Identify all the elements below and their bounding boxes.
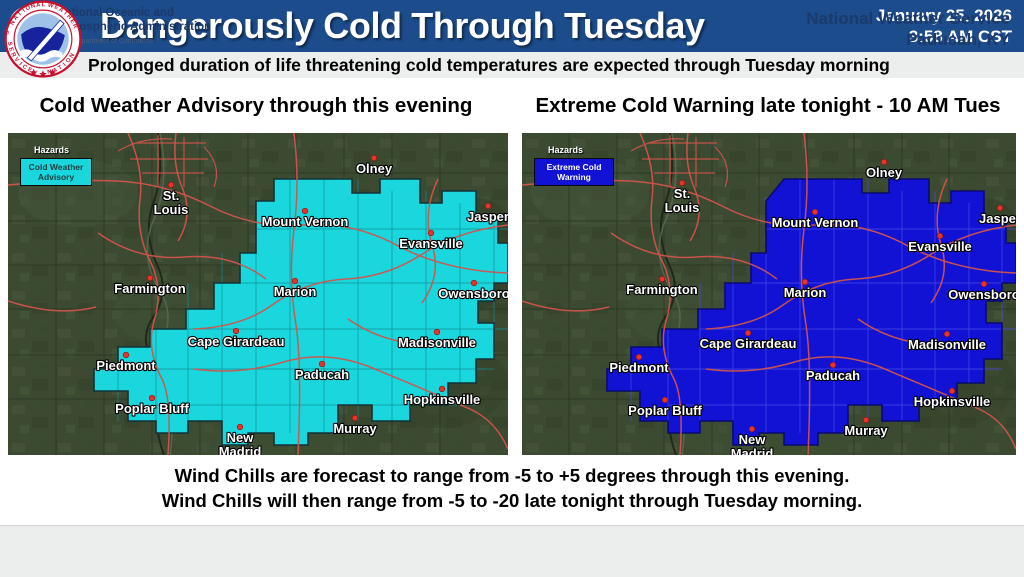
svg-text:E: E <box>4 30 9 35</box>
map-title-left: Cold Weather Advisory through this eveni… <box>0 92 512 120</box>
city-dot <box>679 180 685 186</box>
city-label: Paducah <box>295 367 349 382</box>
city-label: Madisonville <box>908 337 986 352</box>
city-dot <box>149 395 155 401</box>
city-dot <box>881 159 887 165</box>
city-dot <box>237 424 243 430</box>
city-label: Evansville <box>399 236 463 251</box>
city-label: Cape Girardeau <box>188 334 285 349</box>
city-dot <box>319 361 325 367</box>
city-label: Poplar Bluff <box>115 401 189 416</box>
city-dot <box>944 331 950 337</box>
city-dot <box>662 397 668 403</box>
city-label: Jasper <box>979 211 1016 226</box>
city-dot <box>292 278 298 284</box>
city-dot <box>802 279 808 285</box>
city-label: Marion <box>784 285 827 300</box>
city-dot <box>830 362 836 368</box>
city-dot <box>302 208 308 214</box>
city-label: Paducah <box>806 368 860 383</box>
national-weather-service-seal-icon: N A T I O N A L W E A T H E R E S E R V … <box>4 0 82 78</box>
city-label: Hopkinsville <box>914 394 991 409</box>
map-panel-extreme-cold-warning[interactable]: St.LouisOlneyJasperMount VernonEvansvill… <box>522 133 1016 455</box>
city-label: Hopkinsville <box>404 392 481 407</box>
city-dot <box>123 352 129 358</box>
city-dot <box>233 328 239 334</box>
city-dot <box>749 426 755 432</box>
nws-office: National Weather Service Paducah, KY <box>806 8 1010 50</box>
city-label: Evansville <box>908 239 972 254</box>
summary-line-1: Wind Chills are forecast to range from -… <box>0 463 1024 488</box>
city-label: Cape Girardeau <box>700 336 797 351</box>
city-label: Mount Vernon <box>262 214 349 229</box>
city-dot <box>997 205 1003 211</box>
legend-title-right: Hazards <box>548 145 614 155</box>
city-label: Owensboro <box>948 287 1016 302</box>
legend-swatch-cold-weather-advisory: Cold Weather Advisory <box>20 158 92 186</box>
city-dot <box>434 329 440 335</box>
legend-swatch-extreme-cold-warning: Extreme Cold Warning <box>534 158 614 186</box>
wind-chill-summary: Wind Chills are forecast to range from -… <box>0 463 1024 513</box>
city-label: Madisonville <box>398 335 476 350</box>
city-dot <box>659 276 665 282</box>
city-dot <box>981 281 987 287</box>
city-dot <box>636 354 642 360</box>
city-dot <box>352 415 358 421</box>
city-label: Piedmont <box>609 360 669 375</box>
city-label: Murray <box>333 421 377 436</box>
subheadline: Prolonged duration of life threatening c… <box>88 52 1018 78</box>
city-dot <box>863 417 869 423</box>
city-label: Poplar Bluff <box>628 403 702 418</box>
city-dot <box>168 182 174 188</box>
city-label: Jasper <box>467 209 508 224</box>
city-dot <box>428 230 434 236</box>
svg-text:L: L <box>42 2 46 8</box>
city-label: Marion <box>274 284 317 299</box>
city-dot <box>371 155 377 161</box>
city-dot <box>812 209 818 215</box>
city-dot <box>147 275 153 281</box>
city-dot <box>745 330 751 336</box>
city-label: Olney <box>356 161 393 176</box>
city-dot <box>937 233 943 239</box>
nws-office-location: Paducah, KY <box>806 29 1010 50</box>
city-label: Owensboro <box>438 286 508 301</box>
map-title-right: Extreme Cold Warning late tonight - 10 A… <box>512 92 1024 120</box>
city-dot <box>485 203 491 209</box>
legend-right: Hazards Extreme Cold Warning <box>534 145 614 186</box>
city-label: Farmington <box>626 282 698 297</box>
city-dot <box>471 280 477 286</box>
city-label: Murray <box>844 423 888 438</box>
city-label: Farmington <box>114 281 186 296</box>
nws-office-name: National Weather Service <box>806 8 1010 29</box>
city-dot <box>439 386 445 392</box>
legend-title-left: Hazards <box>34 145 92 155</box>
summary-line-2: Wind Chills will then range from -5 to -… <box>0 488 1024 513</box>
legend-left: Hazards Cold Weather Advisory <box>20 145 92 186</box>
map-panel-cold-weather-advisory[interactable]: St.LouisOlneyJasperMount VernonEvansvill… <box>8 133 508 455</box>
city-dot <box>949 388 955 394</box>
header-divider <box>0 78 1024 90</box>
city-label: Mount Vernon <box>772 215 859 230</box>
city-label: Piedmont <box>96 358 156 373</box>
footer-bar <box>0 525 1024 577</box>
city-label: Olney <box>866 165 903 180</box>
